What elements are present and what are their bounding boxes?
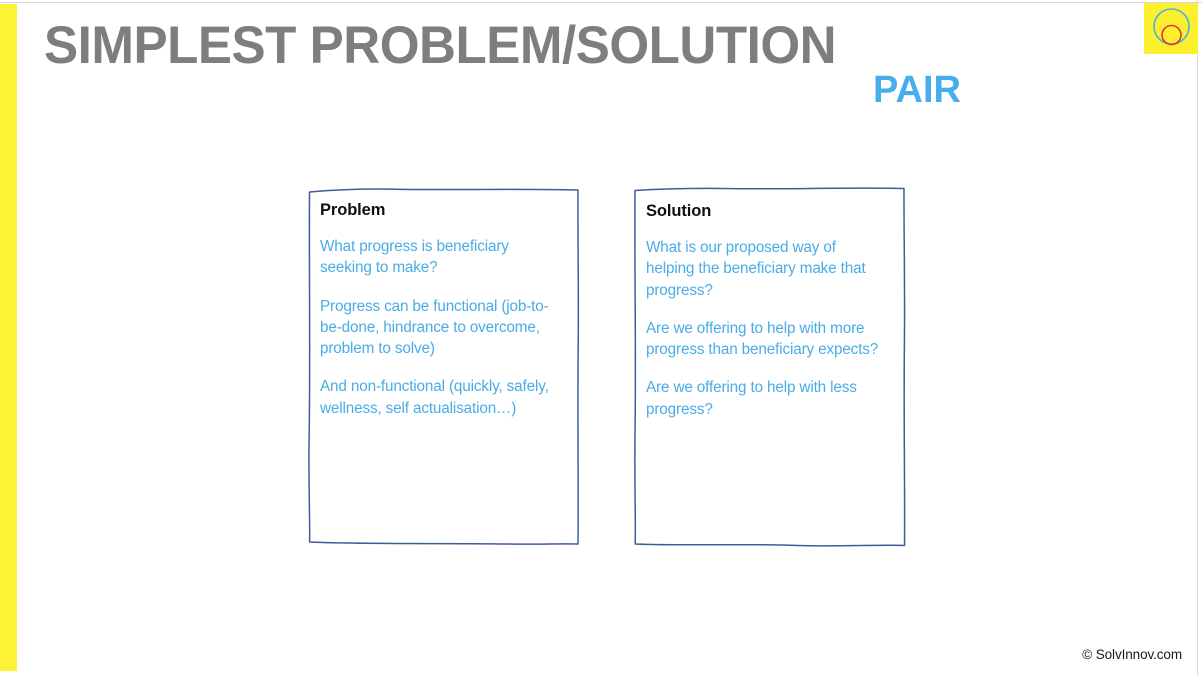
solution-card-title: Solution	[646, 201, 886, 221]
top-divider	[0, 2, 1202, 3]
problem-paragraph-1: What progress is beneficiary seeking to …	[320, 236, 556, 279]
footer-copyright: © SolvInnov.com	[1082, 647, 1182, 662]
slide-canvas: SIMPLEST PROBLEM/SOLUTION PAIR Problem W…	[0, 0, 1202, 676]
solvinnov-logo	[1144, 3, 1198, 54]
solution-card-content: Solution What is our proposed way of hel…	[646, 201, 886, 542]
page-title: SIMPLEST PROBLEM/SOLUTION PAIR	[44, 18, 974, 110]
page-title-main: SIMPLEST PROBLEM/SOLUTION	[44, 18, 941, 74]
right-divider	[1197, 0, 1198, 676]
problem-card[interactable]: Problem What progress is beneficiary see…	[307, 186, 581, 548]
solution-paragraph-1: What is our proposed way of helping the …	[646, 237, 886, 301]
problem-card-title: Problem	[320, 200, 556, 220]
left-accent-bar	[0, 4, 17, 671]
problem-paragraph-3: And non-functional (quickly, safely, wel…	[320, 376, 556, 419]
problem-paragraph-2: Progress can be functional (job-to-be-do…	[320, 296, 556, 360]
problem-card-content: Problem What progress is beneficiary see…	[320, 200, 556, 540]
logo-circles-icon	[1144, 3, 1198, 54]
page-title-accent: PAIR	[44, 70, 974, 110]
solution-card[interactable]: Solution What is our proposed way of hel…	[633, 186, 907, 550]
solution-paragraph-2: Are we offering to help with more progre…	[646, 318, 886, 361]
solution-paragraph-3: Are we offering to help with less progre…	[646, 377, 886, 420]
